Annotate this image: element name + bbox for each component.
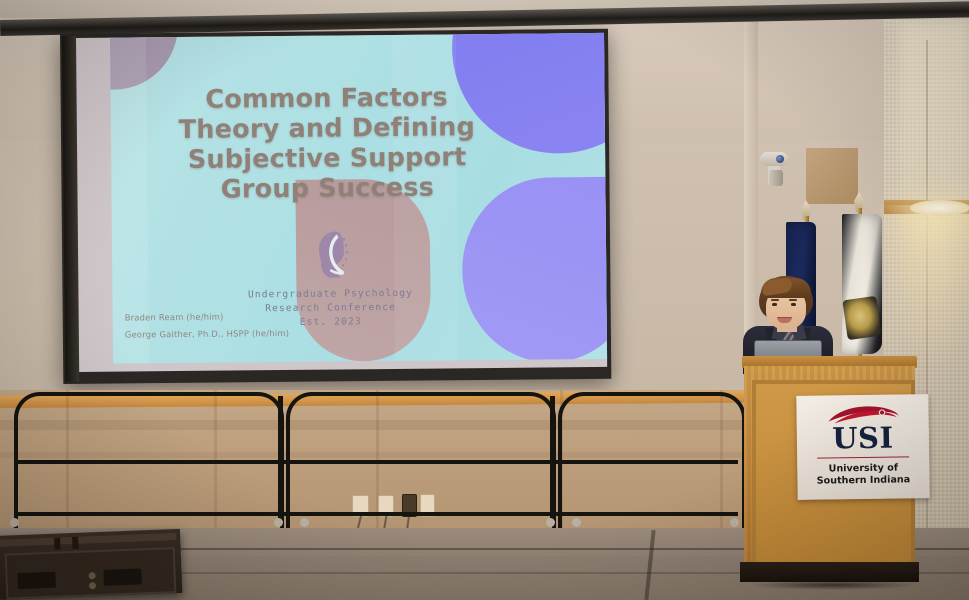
railing-lowrail [16,512,738,516]
slide-shape-violet-leaf [461,177,607,364]
wall-tan-panel [806,148,858,204]
wooden-podium: USI University of Southern Indiana [742,356,917,588]
usi-logo-sign: USI University of Southern Indiana [796,394,929,500]
railing-foot-1 [10,518,19,527]
wall-security-camera-icon [760,152,788,186]
presenter-brow-right [789,299,797,301]
railing-foot-4 [546,518,555,527]
slide-presenters: Braden Ream (he/him) George Gaither, Ph.… [125,308,290,344]
usi-divider-rule [817,456,909,458]
road-case-lip [0,533,176,547]
camera-lens [776,155,784,163]
presenter-name-2: George Gaither, Ph.D., HSPP (he/him) [125,325,289,344]
railing-midrail [16,460,738,464]
railing-post-1 [278,396,283,526]
flag-seal-emblem [842,296,881,340]
equipment-road-case [0,529,182,600]
usi-acronym: USI [797,422,929,454]
podium-floor-shadow [748,580,918,590]
usi-subtitle-line-2: Southern Indiana [797,474,929,488]
head-profile-stars-logo-icon [306,227,355,281]
slide-title-line-4: Group Success [145,172,509,205]
road-case-strap-2 [72,537,78,549]
presenter-eye-right [791,303,796,306]
presenter-name-1: Braden Ream (he/him) [125,308,289,327]
conference-logo-line-1: Undergraduate Psychology [230,287,430,303]
railing-foot-6 [730,518,739,527]
road-case-handle-left[interactable] [17,572,56,589]
railing-foot-3 [300,518,309,527]
camera-barrel [769,170,783,186]
slide-title: Common Factors Theory and Defining Subje… [144,82,509,205]
projection-screen-surface: Common Factors Theory and Defining Subje… [76,33,607,372]
presentation-slide: Common Factors Theory and Defining Subje… [110,33,607,364]
slide-title-line-3: Subjective Support [145,142,509,175]
presenter-eye-left [772,303,777,306]
road-case-strap-1 [54,537,60,549]
presenter-brow-left [771,299,779,301]
presentation-photo-scene: Common Factors Theory and Defining Subje… [0,0,969,600]
podium-base-kickplate [740,562,919,582]
road-case-handle-right[interactable] [103,568,142,585]
seal-flag [842,214,882,354]
railing-post-2 [550,396,555,526]
railing-foot-5 [572,518,581,527]
railing-foot-2 [274,518,283,527]
slide-title-line-1: Common Factors [144,82,508,115]
recessed-ceiling-light-icon [910,200,969,216]
slide-title-line-2: Theory and Defining [145,112,509,145]
